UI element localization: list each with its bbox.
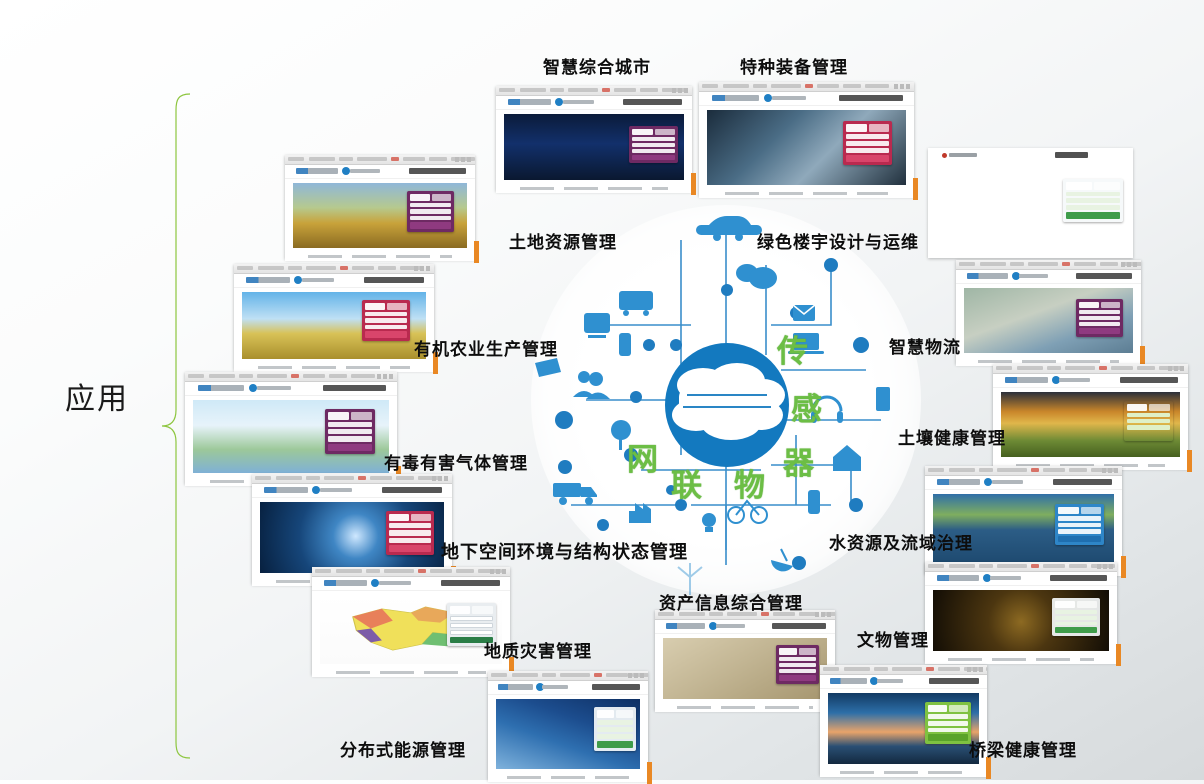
login-tab-active[interactable] [365, 303, 385, 310]
site-subtitle [302, 278, 334, 282]
login-card[interactable] [629, 126, 678, 163]
login-button[interactable] [1127, 432, 1170, 438]
page-body [655, 634, 835, 703]
password-field[interactable] [410, 209, 452, 214]
captcha-field[interactable] [597, 734, 634, 739]
captcha-field[interactable] [1055, 622, 1097, 626]
site-subtitle [320, 488, 352, 492]
login-tab-alt[interactable] [411, 514, 431, 522]
label-smart-city: 智慧综合城市 [543, 53, 651, 78]
site-title [839, 95, 904, 101]
login-tab-alt[interactable] [655, 129, 676, 135]
site-subtitle [379, 581, 411, 585]
login-card[interactable] [925, 702, 971, 744]
password-field[interactable] [1066, 198, 1119, 203]
browser-chrome[interactable] [925, 466, 1122, 476]
browser-chrome[interactable] [185, 372, 397, 382]
window-controls[interactable] [815, 612, 833, 617]
site-subtitle [772, 96, 806, 100]
login-tab-active[interactable] [1127, 404, 1147, 411]
site-title [623, 99, 682, 105]
login-tab-active[interactable] [410, 194, 430, 201]
username-field[interactable] [1127, 413, 1170, 417]
label-soil-health: 土壤健康管理 [898, 424, 1006, 449]
login-tabs[interactable] [1066, 182, 1119, 189]
site-title [1053, 479, 1112, 485]
window-controls[interactable] [967, 667, 985, 672]
login-tab-active[interactable] [928, 705, 947, 712]
label-distributed-energy: 分布式能源管理 [340, 736, 466, 761]
window-controls[interactable] [1168, 366, 1186, 371]
center-char-wu: 物 [734, 471, 765, 502]
site-logo [937, 575, 979, 581]
site-header [925, 476, 1122, 490]
site-title [364, 277, 424, 283]
site-logo [508, 99, 551, 105]
site-badge-icon [764, 94, 772, 102]
label-water-resource: 水资源及流域治理 [829, 529, 973, 554]
password-field[interactable] [1058, 523, 1101, 528]
login-tab-active[interactable] [597, 710, 614, 717]
side-tab-handle[interactable] [1187, 450, 1192, 472]
password-field[interactable] [632, 143, 675, 147]
username-field[interactable] [410, 203, 452, 208]
login-button[interactable] [779, 675, 817, 681]
special-equipment-shot[interactable] [699, 82, 914, 196]
login-button[interactable] [365, 331, 407, 337]
login-card[interactable] [1055, 504, 1104, 545]
username-field[interactable] [1079, 310, 1120, 314]
page-footer [655, 703, 835, 712]
label-geo-hazard: 地质灾害管理 [484, 637, 592, 662]
site-header [285, 165, 475, 179]
smart-city-shot[interactable] [496, 86, 692, 191]
browser-chrome[interactable] [956, 260, 1141, 270]
site-header [312, 577, 510, 591]
window-controls[interactable] [894, 84, 912, 89]
center-char-wang: 网 [627, 445, 658, 476]
label-organic-agri: 有机农业生产管理 [414, 335, 558, 360]
distributed-energy-shot[interactable] [488, 671, 648, 780]
site-badge-icon [294, 276, 302, 284]
login-tabs[interactable] [1058, 507, 1101, 514]
username-field[interactable] [928, 714, 968, 719]
login-tab-active[interactable] [450, 606, 471, 613]
label-bridge-health: 桥梁健康管理 [969, 736, 1077, 761]
login-tabs[interactable] [846, 124, 889, 132]
login-button[interactable] [846, 155, 889, 162]
login-tab-active[interactable] [632, 129, 653, 135]
center-char-chuan: 传 [777, 337, 808, 368]
username-field[interactable] [597, 720, 634, 725]
browser-chrome[interactable] [285, 155, 475, 165]
geo-hazard-shot[interactable] [312, 567, 510, 675]
password-field[interactable] [928, 721, 968, 726]
smart-logistics-shot[interactable] [956, 260, 1141, 364]
login-tabs[interactable] [1127, 404, 1170, 411]
login-card[interactable] [1076, 299, 1123, 337]
center-char-qi: 器 [783, 449, 814, 480]
side-tab-handle[interactable] [691, 173, 696, 195]
site-header [956, 270, 1141, 284]
page-body [820, 689, 987, 768]
captcha-field[interactable] [1058, 529, 1101, 534]
site-logo [198, 385, 245, 391]
login-tab-active[interactable] [1055, 601, 1075, 607]
site-subtitle [1059, 378, 1090, 382]
login-tab-alt[interactable] [1094, 182, 1120, 189]
site-title [323, 385, 387, 391]
site-logo [830, 678, 867, 684]
login-button[interactable] [632, 155, 675, 161]
site-subtitle [992, 480, 1024, 484]
window-controls[interactable] [414, 266, 432, 271]
login-tabs[interactable] [328, 412, 373, 420]
cultural-relic-shot[interactable] [925, 562, 1117, 662]
page-footer [496, 184, 692, 193]
login-card[interactable] [594, 707, 637, 750]
site-badge-icon [984, 478, 992, 486]
site-header [234, 274, 434, 288]
login-button[interactable] [389, 545, 431, 552]
username-field[interactable] [365, 312, 407, 316]
page-body [285, 179, 475, 252]
site-logo [246, 277, 290, 283]
site-logo [666, 623, 706, 629]
window-controls[interactable] [455, 157, 473, 162]
page-footer [928, 248, 1133, 258]
login-tab-alt[interactable] [1149, 404, 1169, 411]
login-card[interactable] [407, 191, 455, 232]
page-slogan [1055, 152, 1088, 158]
login-card[interactable] [386, 511, 434, 555]
login-tab-active[interactable] [389, 514, 409, 522]
password-field[interactable] [1055, 616, 1097, 620]
login-tab-alt[interactable] [432, 194, 452, 201]
site-badge-icon [312, 486, 320, 494]
window-controls[interactable] [1121, 262, 1139, 267]
login-tabs[interactable] [1055, 601, 1097, 607]
login-tabs[interactable] [365, 303, 407, 310]
label-land-resource: 土地资源管理 [509, 228, 617, 253]
green-building-shot[interactable] [928, 148, 1133, 258]
password-field[interactable] [1127, 419, 1170, 423]
password-field[interactable] [389, 530, 431, 535]
login-tab-active[interactable] [1079, 302, 1098, 308]
login-tabs[interactable] [450, 606, 494, 613]
login-card[interactable] [325, 409, 376, 454]
site-title [929, 678, 979, 684]
login-button[interactable] [1055, 627, 1097, 633]
page-body [488, 695, 648, 773]
login-tab-alt[interactable] [1081, 507, 1102, 514]
site-title [1076, 273, 1132, 279]
login-tab-alt[interactable] [387, 303, 407, 310]
site-logo [967, 273, 1008, 279]
captcha-field[interactable] [450, 630, 494, 635]
side-tab-handle[interactable] [474, 241, 479, 263]
password-field[interactable] [365, 318, 407, 322]
login-button[interactable] [597, 741, 634, 748]
password-field[interactable] [846, 141, 889, 146]
page-body [252, 498, 452, 577]
page-footer [285, 252, 475, 261]
window-controls[interactable] [672, 88, 690, 93]
password-field[interactable] [597, 727, 634, 732]
captcha-field[interactable] [365, 325, 407, 329]
login-button[interactable] [1058, 536, 1101, 542]
browser-chrome[interactable] [496, 86, 692, 96]
site-header [925, 572, 1117, 586]
login-card[interactable] [1052, 598, 1100, 636]
login-tabs[interactable] [1079, 302, 1120, 308]
captcha-field[interactable] [928, 728, 968, 733]
site-badge-icon [249, 384, 257, 392]
browser-chrome[interactable] [234, 264, 434, 274]
username-field[interactable] [450, 616, 494, 621]
login-tab-alt[interactable] [869, 124, 890, 132]
username-field[interactable] [1058, 516, 1101, 521]
label-underground: 地下空间环境与结构状态管理 [441, 538, 688, 564]
brand-name [949, 153, 978, 157]
site-badge-icon [555, 98, 563, 106]
login-tabs[interactable] [632, 129, 675, 135]
label-smart-logistics: 智慧物流 [889, 333, 961, 358]
site-badge-icon [371, 579, 379, 587]
login-tab-alt[interactable] [616, 710, 633, 717]
page-footer [488, 773, 648, 782]
site-title [409, 168, 466, 174]
site-header [496, 96, 692, 110]
side-tab-handle[interactable] [1116, 644, 1121, 666]
page-body [956, 284, 1141, 357]
page-body [496, 110, 692, 184]
login-card[interactable] [1063, 179, 1122, 222]
site-subtitle [990, 576, 1021, 580]
center-char-gan: 感 [791, 395, 822, 426]
page-footer [234, 363, 434, 372]
site-title [441, 580, 500, 586]
login-tab-alt[interactable] [472, 606, 493, 613]
site-subtitle [563, 100, 594, 104]
captcha-field[interactable] [1127, 425, 1170, 429]
side-tab-handle[interactable] [1121, 556, 1126, 578]
window-controls[interactable] [1097, 564, 1115, 569]
asset-info-shot[interactable] [655, 610, 835, 710]
login-tabs[interactable] [389, 514, 431, 522]
label-special-equipment: 特种装备管理 [740, 53, 848, 78]
login-button[interactable] [1066, 212, 1119, 219]
site-header [185, 382, 397, 396]
login-button[interactable] [410, 222, 452, 228]
login-tab-active[interactable] [1058, 507, 1079, 514]
username-field[interactable] [779, 657, 817, 661]
site-subtitle [716, 624, 745, 628]
login-card[interactable] [362, 300, 410, 341]
browser-chrome[interactable] [312, 567, 510, 577]
captcha-field[interactable] [632, 149, 675, 153]
login-tab-alt[interactable] [1101, 302, 1120, 308]
login-tabs[interactable] [779, 648, 817, 655]
label-green-building: 绿色楼宇设计与运维 [757, 228, 919, 253]
login-card[interactable] [843, 121, 892, 165]
page-body [993, 388, 1188, 461]
browser-chrome[interactable] [252, 474, 452, 484]
site-subtitle [350, 169, 380, 173]
username-field[interactable] [1055, 610, 1097, 614]
captcha-field[interactable] [389, 538, 431, 543]
password-field[interactable] [779, 663, 817, 667]
page-body [312, 591, 510, 668]
login-tab-active[interactable] [328, 412, 349, 420]
login-tab-active[interactable] [1066, 182, 1092, 189]
label-cultural-relic: 文物管理 [857, 626, 929, 651]
site-logo [324, 580, 368, 586]
site-badge-icon [342, 167, 350, 175]
site-logo [264, 487, 308, 493]
page-footer [925, 655, 1117, 664]
captcha-field[interactable] [779, 669, 817, 673]
window-controls[interactable] [1102, 468, 1120, 473]
brand-logo-icon [942, 153, 947, 158]
page-body [234, 288, 434, 363]
center-char-lian: 联 [671, 471, 702, 502]
browser-chrome[interactable] [699, 82, 914, 92]
login-button[interactable] [1079, 328, 1120, 334]
window-controls[interactable] [377, 374, 395, 379]
password-field[interactable] [1079, 316, 1120, 320]
login-tab-alt[interactable] [1077, 601, 1097, 607]
login-button[interactable] [928, 734, 968, 741]
browser-chrome[interactable] [488, 671, 648, 681]
site-logo [712, 95, 759, 101]
login-tab-active[interactable] [846, 124, 867, 132]
organic-agri-shot[interactable] [234, 264, 434, 370]
page-body [699, 106, 914, 189]
login-tab-alt[interactable] [949, 705, 968, 712]
site-header [488, 681, 648, 695]
site-subtitle [877, 679, 904, 683]
page-footer [312, 668, 510, 677]
site-title [1120, 377, 1179, 383]
slide-canvas: 应用 [0, 0, 1204, 780]
browser-chrome[interactable] [993, 364, 1188, 374]
login-tabs[interactable] [597, 710, 634, 717]
page-footer [699, 189, 914, 198]
site-subtitle [1019, 274, 1049, 278]
page-body [925, 586, 1117, 655]
site-logo [1005, 377, 1048, 383]
password-field[interactable] [328, 429, 373, 434]
bridge-health-shot[interactable] [820, 665, 987, 775]
captcha-field[interactable] [1079, 322, 1120, 326]
login-card[interactable] [776, 645, 820, 684]
captcha-field[interactable] [846, 148, 889, 153]
site-subtitle [257, 386, 291, 390]
username-field[interactable] [389, 523, 431, 528]
login-tab-alt[interactable] [351, 412, 372, 420]
username-field[interactable] [328, 422, 373, 427]
page-body [185, 396, 397, 477]
water-resource-shot[interactable] [925, 466, 1122, 574]
toxic-gas-shot[interactable] [185, 372, 397, 484]
login-card[interactable] [1124, 401, 1173, 441]
page-footer [820, 768, 987, 777]
captcha-field[interactable] [410, 216, 452, 221]
site-title [592, 684, 640, 690]
window-controls[interactable] [490, 569, 508, 574]
captcha-field[interactable] [328, 436, 373, 441]
login-button[interactable] [328, 444, 373, 451]
login-tab-alt[interactable] [799, 648, 817, 655]
site-header [928, 148, 1133, 164]
land-resource-shot[interactable] [285, 155, 475, 259]
label-asset-info: 资产信息综合管理 [659, 589, 803, 614]
application-axis-label: 应用 [62, 383, 132, 417]
soil-health-shot[interactable] [993, 364, 1188, 468]
browser-chrome[interactable] [820, 665, 987, 675]
site-subtitle [542, 685, 568, 689]
site-badge-icon [1052, 376, 1060, 384]
password-field[interactable] [450, 623, 494, 628]
site-header [252, 484, 452, 498]
login-tabs[interactable] [928, 705, 968, 712]
username-field[interactable] [846, 134, 889, 139]
site-title [1050, 575, 1108, 581]
site-title [772, 623, 826, 629]
label-toxic-gas: 有毒有害气体管理 [384, 449, 528, 474]
site-logo [296, 168, 338, 174]
site-header [699, 92, 914, 106]
site-logo [498, 684, 533, 690]
site-header [655, 620, 835, 634]
username-field[interactable] [632, 137, 675, 141]
login-tabs[interactable] [410, 194, 452, 201]
page-body [928, 164, 1133, 248]
window-controls[interactable] [432, 476, 450, 481]
site-logo [937, 479, 980, 485]
side-tab-handle[interactable] [647, 762, 652, 784]
captcha-field[interactable] [1066, 205, 1119, 210]
site-header [993, 374, 1188, 388]
username-field[interactable] [1066, 192, 1119, 197]
browser-chrome[interactable] [925, 562, 1117, 572]
site-title [382, 487, 442, 493]
login-tab-active[interactable] [779, 648, 797, 655]
site-header [820, 675, 987, 689]
window-controls[interactable] [628, 673, 646, 678]
side-tab-handle[interactable] [913, 178, 918, 200]
